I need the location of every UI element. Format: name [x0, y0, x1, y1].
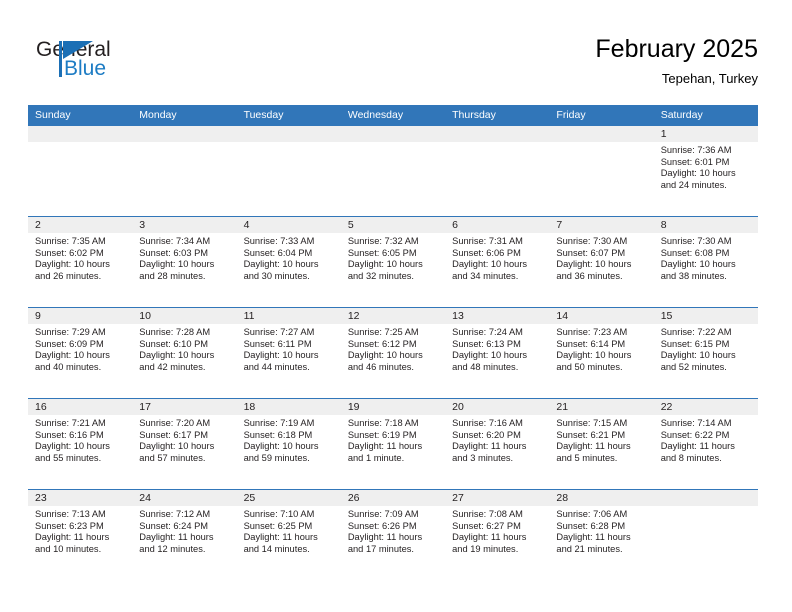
day-sun-info: Sunrise: 7:13 AM Sunset: 6:23 PM Dayligh… [35, 509, 132, 555]
day-sun-info: Sunrise: 7:12 AM Sunset: 6:24 PM Dayligh… [139, 509, 236, 555]
daylight-text-line1: Daylight: 11 hours [661, 441, 752, 453]
day-sun-info: Sunrise: 7:18 AM Sunset: 6:19 PM Dayligh… [348, 418, 445, 464]
sunrise-text: Sunrise: 7:16 AM [452, 418, 543, 430]
day-cell[interactable]: 16 Sunrise: 7:21 AM Sunset: 6:16 PM Dayl… [28, 399, 132, 489]
daylight-text-line2: and 50 minutes. [556, 362, 647, 374]
logo-text-blue: Blue [64, 57, 106, 81]
daylight-text-line1: Daylight: 11 hours [452, 532, 543, 544]
day-cell[interactable]: 10 Sunrise: 7:28 AM Sunset: 6:10 PM Dayl… [132, 308, 236, 398]
sunset-text: Sunset: 6:03 PM [139, 248, 230, 260]
day-number: 15 [661, 308, 758, 324]
day-cell[interactable]: 23 Sunrise: 7:13 AM Sunset: 6:23 PM Dayl… [28, 490, 132, 580]
day-number [348, 126, 445, 142]
day-cell[interactable] [237, 126, 341, 216]
daylight-text-line2: and 14 minutes. [244, 544, 335, 556]
sunset-text: Sunset: 6:21 PM [556, 430, 647, 442]
daylight-text-line1: Daylight: 11 hours [348, 441, 439, 453]
daylight-text-line2: and 44 minutes. [244, 362, 335, 374]
day-number: 12 [348, 308, 445, 324]
day-cell[interactable]: 6 Sunrise: 7:31 AM Sunset: 6:06 PM Dayli… [445, 217, 549, 307]
daylight-text-line1: Daylight: 10 hours [661, 350, 752, 362]
calendar-week-row: 16 Sunrise: 7:21 AM Sunset: 6:16 PM Dayl… [28, 398, 758, 489]
sunrise-text: Sunrise: 7:19 AM [244, 418, 335, 430]
day-cell[interactable]: 20 Sunrise: 7:16 AM Sunset: 6:20 PM Dayl… [445, 399, 549, 489]
day-cell[interactable]: 26 Sunrise: 7:09 AM Sunset: 6:26 PM Dayl… [341, 490, 445, 580]
sunset-text: Sunset: 6:27 PM [452, 521, 543, 533]
day-number: 4 [244, 217, 341, 233]
daylight-text-line2: and 36 minutes. [556, 271, 647, 283]
day-sun-info: Sunrise: 7:10 AM Sunset: 6:25 PM Dayligh… [244, 509, 341, 555]
sunrise-text: Sunrise: 7:34 AM [139, 236, 230, 248]
day-sun-info: Sunrise: 7:30 AM Sunset: 6:08 PM Dayligh… [661, 236, 758, 282]
daylight-text-line1: Daylight: 10 hours [139, 259, 230, 271]
weekday-header-wednesday: Wednesday [341, 105, 445, 125]
day-sun-info: Sunrise: 7:28 AM Sunset: 6:10 PM Dayligh… [139, 327, 236, 373]
day-number: 19 [348, 399, 445, 415]
daylight-text-line1: Daylight: 10 hours [35, 259, 126, 271]
day-cell[interactable]: 9 Sunrise: 7:29 AM Sunset: 6:09 PM Dayli… [28, 308, 132, 398]
sunset-text: Sunset: 6:12 PM [348, 339, 439, 351]
day-number: 9 [35, 308, 132, 324]
day-cell[interactable]: 22 Sunrise: 7:14 AM Sunset: 6:22 PM Dayl… [654, 399, 758, 489]
day-number [139, 126, 236, 142]
day-cell[interactable]: 21 Sunrise: 7:15 AM Sunset: 6:21 PM Dayl… [549, 399, 653, 489]
sunset-text: Sunset: 6:26 PM [348, 521, 439, 533]
sunrise-text: Sunrise: 7:06 AM [556, 509, 647, 521]
general-blue-logo: General Blue [36, 38, 236, 90]
weekday-header-row: Sunday Monday Tuesday Wednesday Thursday… [28, 105, 758, 125]
sunset-text: Sunset: 6:15 PM [661, 339, 752, 351]
sunset-text: Sunset: 6:20 PM [452, 430, 543, 442]
day-cell[interactable]: 1 Sunrise: 7:36 AM Sunset: 6:01 PM Dayli… [654, 126, 758, 216]
daylight-text-line2: and 1 minute. [348, 453, 439, 465]
day-sun-info: Sunrise: 7:31 AM Sunset: 6:06 PM Dayligh… [452, 236, 549, 282]
daylight-text-line2: and 46 minutes. [348, 362, 439, 374]
sunrise-text: Sunrise: 7:30 AM [556, 236, 647, 248]
daylight-text-line1: Daylight: 11 hours [452, 441, 543, 453]
daylight-text-line1: Daylight: 11 hours [244, 532, 335, 544]
day-cell[interactable]: 11 Sunrise: 7:27 AM Sunset: 6:11 PM Dayl… [237, 308, 341, 398]
daylight-text-line1: Daylight: 10 hours [556, 350, 647, 362]
calendar-page: General Blue February 2025 Tepehan, Turk… [0, 0, 792, 612]
day-number: 28 [556, 490, 653, 506]
daylight-text-line1: Daylight: 10 hours [139, 350, 230, 362]
calendar-week-row: 1 Sunrise: 7:36 AM Sunset: 6:01 PM Dayli… [28, 125, 758, 216]
sunset-text: Sunset: 6:04 PM [244, 248, 335, 260]
day-sun-info: Sunrise: 7:09 AM Sunset: 6:26 PM Dayligh… [348, 509, 445, 555]
daylight-text-line2: and 12 minutes. [139, 544, 230, 556]
daylight-text-line1: Daylight: 10 hours [139, 441, 230, 453]
day-number: 5 [348, 217, 445, 233]
day-cell[interactable]: 4 Sunrise: 7:33 AM Sunset: 6:04 PM Dayli… [237, 217, 341, 307]
weekday-header-saturday: Saturday [654, 105, 758, 125]
day-sun-info: Sunrise: 7:15 AM Sunset: 6:21 PM Dayligh… [556, 418, 653, 464]
daylight-text-line1: Daylight: 10 hours [452, 350, 543, 362]
day-cell[interactable]: 13 Sunrise: 7:24 AM Sunset: 6:13 PM Dayl… [445, 308, 549, 398]
day-sun-info: Sunrise: 7:21 AM Sunset: 6:16 PM Dayligh… [35, 418, 132, 464]
day-cell[interactable] [445, 126, 549, 216]
daylight-text-line2: and 24 minutes. [661, 180, 752, 192]
day-number: 6 [452, 217, 549, 233]
daylight-text-line1: Daylight: 10 hours [244, 259, 335, 271]
sunrise-text: Sunrise: 7:13 AM [35, 509, 126, 521]
sunset-text: Sunset: 6:05 PM [348, 248, 439, 260]
day-sun-info: Sunrise: 7:33 AM Sunset: 6:04 PM Dayligh… [244, 236, 341, 282]
day-sun-info: Sunrise: 7:29 AM Sunset: 6:09 PM Dayligh… [35, 327, 132, 373]
sunset-text: Sunset: 6:19 PM [348, 430, 439, 442]
calendar-week-row: 2 Sunrise: 7:35 AM Sunset: 6:02 PM Dayli… [28, 216, 758, 307]
daylight-text-line2: and 38 minutes. [661, 271, 752, 283]
day-cell[interactable]: 18 Sunrise: 7:19 AM Sunset: 6:18 PM Dayl… [237, 399, 341, 489]
day-number: 17 [139, 399, 236, 415]
day-cell[interactable]: 7 Sunrise: 7:30 AM Sunset: 6:07 PM Dayli… [549, 217, 653, 307]
day-cell[interactable]: 17 Sunrise: 7:20 AM Sunset: 6:17 PM Dayl… [132, 399, 236, 489]
sunrise-text: Sunrise: 7:21 AM [35, 418, 126, 430]
day-cell[interactable]: 5 Sunrise: 7:32 AM Sunset: 6:05 PM Dayli… [341, 217, 445, 307]
day-number [661, 490, 758, 506]
daylight-text-line1: Daylight: 10 hours [661, 259, 752, 271]
page-title: February 2025 [595, 34, 758, 64]
day-sun-info: Sunrise: 7:22 AM Sunset: 6:15 PM Dayligh… [661, 327, 758, 373]
sunset-text: Sunset: 6:17 PM [139, 430, 230, 442]
weekday-header-sunday: Sunday [28, 105, 132, 125]
daylight-text-line2: and 32 minutes. [348, 271, 439, 283]
day-number: 23 [35, 490, 132, 506]
day-cell[interactable]: 25 Sunrise: 7:10 AM Sunset: 6:25 PM Dayl… [237, 490, 341, 580]
daylight-text-line2: and 48 minutes. [452, 362, 543, 374]
daylight-text-line2: and 34 minutes. [452, 271, 543, 283]
calendar-grid: Sunday Monday Tuesday Wednesday Thursday… [28, 105, 758, 580]
day-number: 10 [139, 308, 236, 324]
sunrise-text: Sunrise: 7:27 AM [244, 327, 335, 339]
day-number: 3 [139, 217, 236, 233]
day-sun-info: Sunrise: 7:19 AM Sunset: 6:18 PM Dayligh… [244, 418, 341, 464]
daylight-text-line2: and 5 minutes. [556, 453, 647, 465]
day-number [452, 126, 549, 142]
sunset-text: Sunset: 6:16 PM [35, 430, 126, 442]
daylight-text-line1: Daylight: 10 hours [35, 350, 126, 362]
sunrise-text: Sunrise: 7:23 AM [556, 327, 647, 339]
sunrise-text: Sunrise: 7:25 AM [348, 327, 439, 339]
day-sun-info: Sunrise: 7:16 AM Sunset: 6:20 PM Dayligh… [452, 418, 549, 464]
daylight-text-line2: and 57 minutes. [139, 453, 230, 465]
daylight-text-line2: and 17 minutes. [348, 544, 439, 556]
day-cell[interactable]: 14 Sunrise: 7:23 AM Sunset: 6:14 PM Dayl… [549, 308, 653, 398]
daylight-text-line2: and 40 minutes. [35, 362, 126, 374]
daylight-text-line2: and 3 minutes. [452, 453, 543, 465]
sunrise-text: Sunrise: 7:28 AM [139, 327, 230, 339]
day-number: 22 [661, 399, 758, 415]
sunrise-text: Sunrise: 7:29 AM [35, 327, 126, 339]
day-cell[interactable]: 27 Sunrise: 7:08 AM Sunset: 6:27 PM Dayl… [445, 490, 549, 580]
day-number: 8 [661, 217, 758, 233]
day-cell[interactable]: 19 Sunrise: 7:18 AM Sunset: 6:19 PM Dayl… [341, 399, 445, 489]
weekday-header-tuesday: Tuesday [237, 105, 341, 125]
sunrise-text: Sunrise: 7:22 AM [661, 327, 752, 339]
sunrise-text: Sunrise: 7:14 AM [661, 418, 752, 430]
day-number [244, 126, 341, 142]
day-cell[interactable]: 8 Sunrise: 7:30 AM Sunset: 6:08 PM Dayli… [654, 217, 758, 307]
calendar-week-row: 9 Sunrise: 7:29 AM Sunset: 6:09 PM Dayli… [28, 307, 758, 398]
sunset-text: Sunset: 6:24 PM [139, 521, 230, 533]
day-cell[interactable] [132, 126, 236, 216]
daylight-text-line2: and 52 minutes. [661, 362, 752, 374]
day-cell[interactable]: 2 Sunrise: 7:35 AM Sunset: 6:02 PM Dayli… [28, 217, 132, 307]
day-cell[interactable] [28, 126, 132, 216]
sunrise-text: Sunrise: 7:31 AM [452, 236, 543, 248]
daylight-text-line1: Daylight: 10 hours [661, 168, 752, 180]
day-number: 13 [452, 308, 549, 324]
sunset-text: Sunset: 6:07 PM [556, 248, 647, 260]
daylight-text-line2: and 10 minutes. [35, 544, 126, 556]
daylight-text-line1: Daylight: 10 hours [348, 259, 439, 271]
weekday-header-thursday: Thursday [445, 105, 549, 125]
day-cell[interactable] [654, 490, 758, 580]
day-sun-info: Sunrise: 7:34 AM Sunset: 6:03 PM Dayligh… [139, 236, 236, 282]
calendar-week-row: 23 Sunrise: 7:13 AM Sunset: 6:23 PM Dayl… [28, 489, 758, 580]
sunset-text: Sunset: 6:02 PM [35, 248, 126, 260]
day-sun-info: Sunrise: 7:20 AM Sunset: 6:17 PM Dayligh… [139, 418, 236, 464]
weekday-header-monday: Monday [132, 105, 236, 125]
day-number: 26 [348, 490, 445, 506]
day-cell[interactable]: 15 Sunrise: 7:22 AM Sunset: 6:15 PM Dayl… [654, 308, 758, 398]
day-sun-info: Sunrise: 7:36 AM Sunset: 6:01 PM Dayligh… [661, 145, 758, 191]
day-number: 21 [556, 399, 653, 415]
daylight-text-line2: and 26 minutes. [35, 271, 126, 283]
sunrise-text: Sunrise: 7:36 AM [661, 145, 752, 157]
sunset-text: Sunset: 6:11 PM [244, 339, 335, 351]
day-sun-info: Sunrise: 7:14 AM Sunset: 6:22 PM Dayligh… [661, 418, 758, 464]
weekday-header-friday: Friday [549, 105, 653, 125]
day-cell[interactable]: 28 Sunrise: 7:06 AM Sunset: 6:28 PM Dayl… [549, 490, 653, 580]
daylight-text-line1: Daylight: 11 hours [139, 532, 230, 544]
sunrise-text: Sunrise: 7:20 AM [139, 418, 230, 430]
daylight-text-line2: and 42 minutes. [139, 362, 230, 374]
day-cell[interactable]: 12 Sunrise: 7:25 AM Sunset: 6:12 PM Dayl… [341, 308, 445, 398]
sunset-text: Sunset: 6:13 PM [452, 339, 543, 351]
day-number [35, 126, 132, 142]
daylight-text-line1: Daylight: 10 hours [452, 259, 543, 271]
daylight-text-line1: Daylight: 10 hours [556, 259, 647, 271]
sunset-text: Sunset: 6:08 PM [661, 248, 752, 260]
day-cell[interactable]: 3 Sunrise: 7:34 AM Sunset: 6:03 PM Dayli… [132, 217, 236, 307]
daylight-text-line2: and 8 minutes. [661, 453, 752, 465]
sunrise-text: Sunrise: 7:15 AM [556, 418, 647, 430]
sunrise-text: Sunrise: 7:33 AM [244, 236, 335, 248]
sunset-text: Sunset: 6:23 PM [35, 521, 126, 533]
day-number: 18 [244, 399, 341, 415]
day-number: 16 [35, 399, 132, 415]
page-header: General Blue February 2025 Tepehan, Turk… [0, 0, 792, 104]
daylight-text-line1: Daylight: 11 hours [556, 441, 647, 453]
page-subtitle: Tepehan, Turkey [595, 70, 758, 88]
sunrise-text: Sunrise: 7:32 AM [348, 236, 439, 248]
day-cell[interactable] [341, 126, 445, 216]
sunset-text: Sunset: 6:28 PM [556, 521, 647, 533]
sunrise-text: Sunrise: 7:09 AM [348, 509, 439, 521]
day-sun-info: Sunrise: 7:35 AM Sunset: 6:02 PM Dayligh… [35, 236, 132, 282]
sunset-text: Sunset: 6:09 PM [35, 339, 126, 351]
sunrise-text: Sunrise: 7:08 AM [452, 509, 543, 521]
day-number: 24 [139, 490, 236, 506]
sunset-text: Sunset: 6:01 PM [661, 157, 752, 169]
day-sun-info: Sunrise: 7:06 AM Sunset: 6:28 PM Dayligh… [556, 509, 653, 555]
day-number: 14 [556, 308, 653, 324]
daylight-text-line1: Daylight: 10 hours [348, 350, 439, 362]
sunset-text: Sunset: 6:22 PM [661, 430, 752, 442]
daylight-text-line2: and 55 minutes. [35, 453, 126, 465]
day-sun-info: Sunrise: 7:23 AM Sunset: 6:14 PM Dayligh… [556, 327, 653, 373]
daylight-text-line1: Daylight: 11 hours [35, 532, 126, 544]
daylight-text-line1: Daylight: 11 hours [556, 532, 647, 544]
daylight-text-line2: and 19 minutes. [452, 544, 543, 556]
sunrise-text: Sunrise: 7:10 AM [244, 509, 335, 521]
sunrise-text: Sunrise: 7:24 AM [452, 327, 543, 339]
sunrise-text: Sunrise: 7:30 AM [661, 236, 752, 248]
daylight-text-line2: and 21 minutes. [556, 544, 647, 556]
sunset-text: Sunset: 6:10 PM [139, 339, 230, 351]
day-cell[interactable] [549, 126, 653, 216]
day-number: 27 [452, 490, 549, 506]
day-number: 20 [452, 399, 549, 415]
day-sun-info: Sunrise: 7:24 AM Sunset: 6:13 PM Dayligh… [452, 327, 549, 373]
day-sun-info: Sunrise: 7:27 AM Sunset: 6:11 PM Dayligh… [244, 327, 341, 373]
day-sun-info: Sunrise: 7:30 AM Sunset: 6:07 PM Dayligh… [556, 236, 653, 282]
daylight-text-line2: and 30 minutes. [244, 271, 335, 283]
title-block: February 2025 Tepehan, Turkey [595, 34, 758, 88]
sunset-text: Sunset: 6:06 PM [452, 248, 543, 260]
daylight-text-line2: and 59 minutes. [244, 453, 335, 465]
daylight-text-line1: Daylight: 11 hours [348, 532, 439, 544]
day-number: 7 [556, 217, 653, 233]
day-number: 1 [661, 126, 758, 142]
day-sun-info: Sunrise: 7:25 AM Sunset: 6:12 PM Dayligh… [348, 327, 445, 373]
daylight-text-line1: Daylight: 10 hours [244, 441, 335, 453]
sunrise-text: Sunrise: 7:35 AM [35, 236, 126, 248]
day-sun-info: Sunrise: 7:08 AM Sunset: 6:27 PM Dayligh… [452, 509, 549, 555]
sunrise-text: Sunrise: 7:18 AM [348, 418, 439, 430]
sunset-text: Sunset: 6:14 PM [556, 339, 647, 351]
daylight-text-line2: and 28 minutes. [139, 271, 230, 283]
day-cell[interactable]: 24 Sunrise: 7:12 AM Sunset: 6:24 PM Dayl… [132, 490, 236, 580]
day-sun-info: Sunrise: 7:32 AM Sunset: 6:05 PM Dayligh… [348, 236, 445, 282]
sunset-text: Sunset: 6:25 PM [244, 521, 335, 533]
day-number: 11 [244, 308, 341, 324]
daylight-text-line1: Daylight: 10 hours [244, 350, 335, 362]
day-number: 2 [35, 217, 132, 233]
logo-vertical-bar-icon [59, 41, 62, 77]
sunrise-text: Sunrise: 7:12 AM [139, 509, 230, 521]
sunset-text: Sunset: 6:18 PM [244, 430, 335, 442]
day-number [556, 126, 653, 142]
daylight-text-line1: Daylight: 10 hours [35, 441, 126, 453]
day-number: 25 [244, 490, 341, 506]
